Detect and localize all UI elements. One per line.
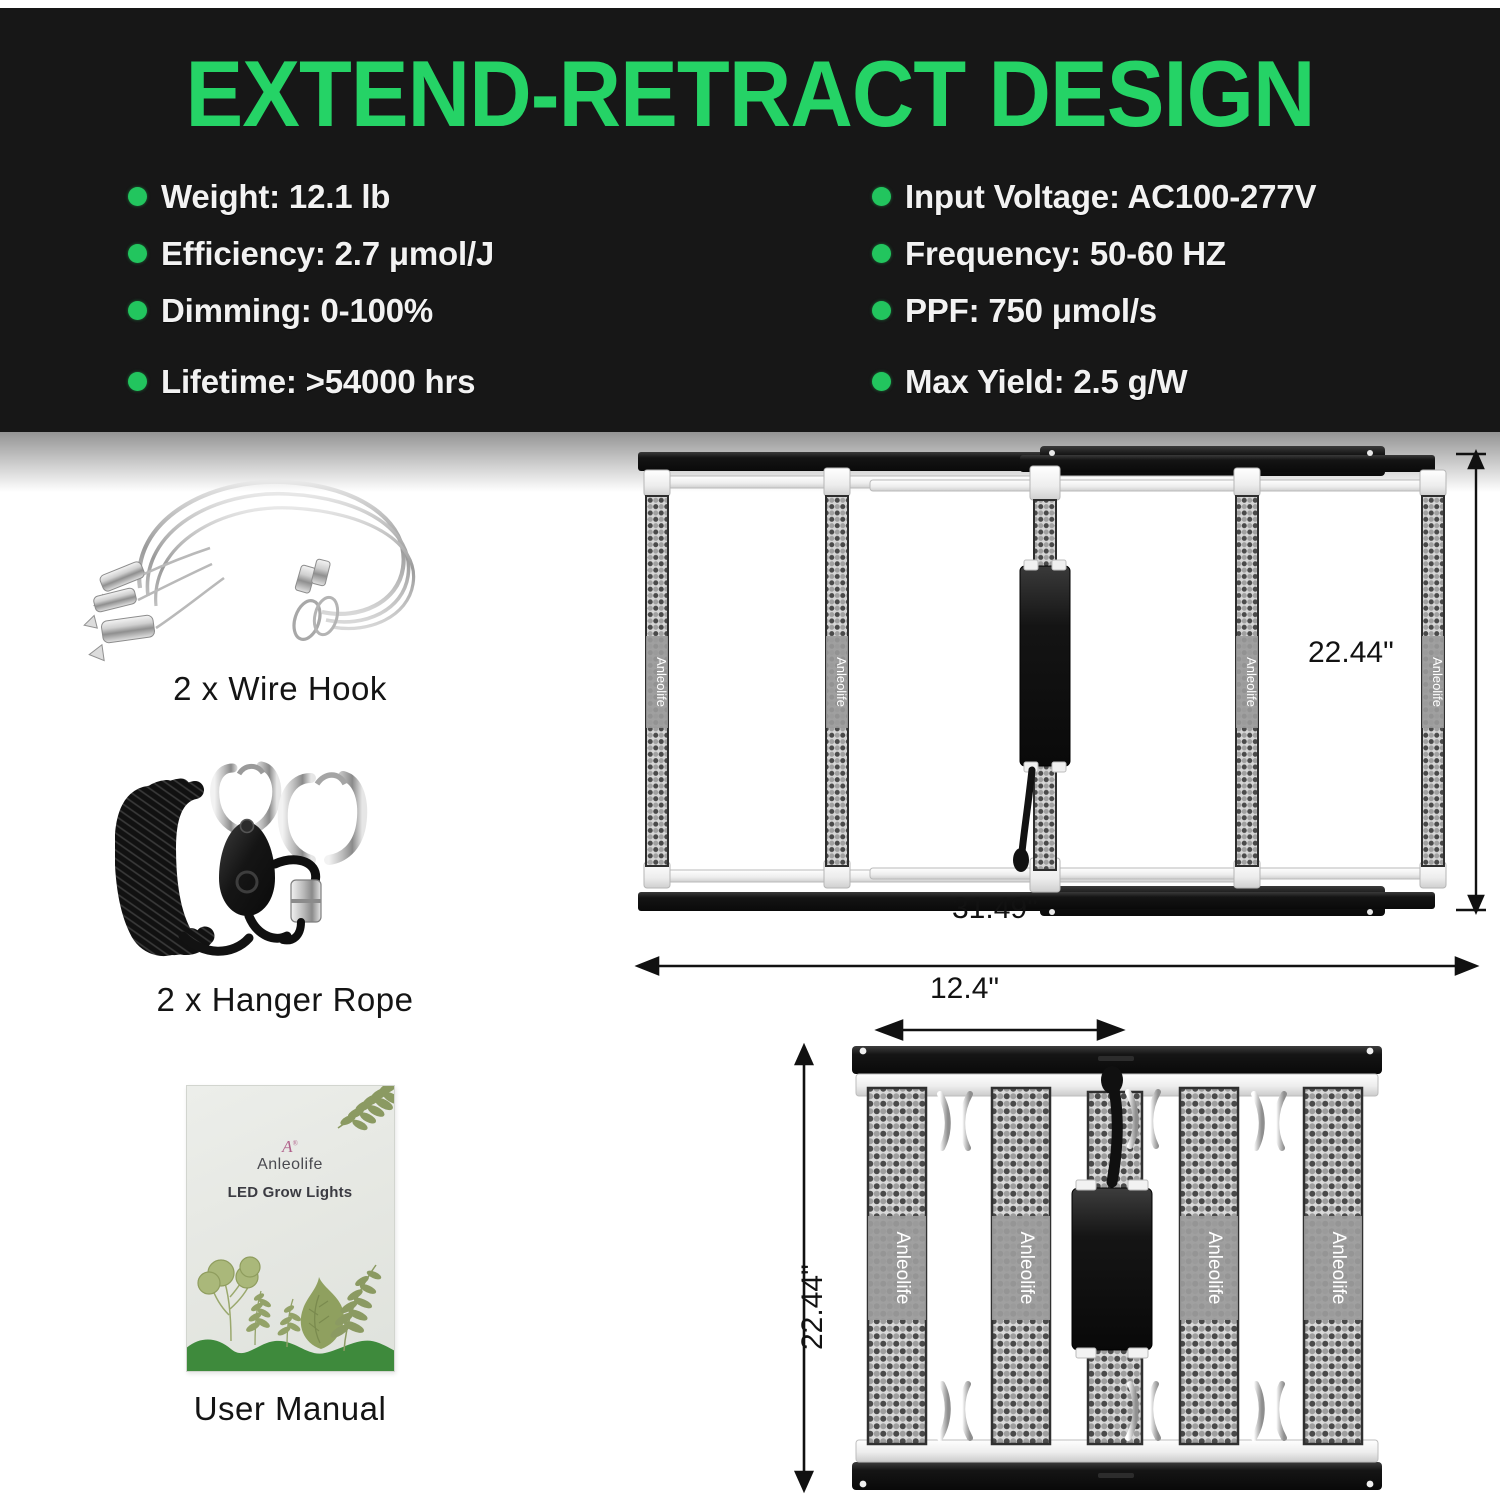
- bullet-icon: [128, 187, 147, 206]
- spec-label: Input Voltage: AC100-277V: [905, 178, 1316, 216]
- accessory-hanger-rope: 2 x Hanger Rope: [0, 760, 605, 1019]
- bar-brand-label: Anleolife: [1244, 657, 1259, 707]
- bullet-icon: [872, 301, 891, 320]
- dimension-label-width-extended: 31.49": [952, 892, 1038, 926]
- product-infographic: EXTEND-RETRACT DESIGN Weight: 12.1 lb Ef…: [0, 0, 1500, 1500]
- accessory-caption: 2 x Hanger Rope: [0, 981, 605, 1019]
- bullet-icon: [872, 187, 891, 206]
- accessories-column: 2 x Wire Hook: [0, 440, 640, 1500]
- bullet-icon: [128, 372, 147, 391]
- bar-brand-label: Anleolife: [1430, 657, 1445, 707]
- bar-brand-label: Anleolife: [1204, 1232, 1225, 1305]
- dimension-label-height-extended: 22.44": [1308, 636, 1394, 670]
- hanger-rope-icon: [115, 760, 455, 975]
- bar-brand-label: Anleolife: [834, 657, 849, 707]
- spec-columns: Weight: 12.1 lb Efficiency: 2.7 μmol/J D…: [0, 168, 1500, 410]
- bar-brand-label: Anleolife: [1328, 1232, 1349, 1305]
- diagram-extended: Anleolife Anleolife Anleolife Anleolife: [620, 440, 1500, 940]
- brand-name: Anleolife: [187, 1156, 394, 1174]
- spec-item-lifetime: Lifetime: >54000 hrs: [128, 353, 750, 410]
- retracted-view-svg: Anleolife Anleolife Anleolife Anleolife: [620, 1040, 1500, 1500]
- accessory-wire-hook: 2 x Wire Hook: [0, 460, 600, 708]
- manual-subtitle: LED Grow Lights: [187, 1184, 394, 1201]
- dimension-height-extended: [1456, 452, 1486, 912]
- spec-label: Frequency: 50-60 HZ: [905, 235, 1226, 273]
- extended-view-svg: Anleolife Anleolife Anleolife Anleolife: [620, 440, 1500, 940]
- branch-decoration-icon: [324, 1255, 386, 1351]
- accessory-caption: 2 x Wire Hook: [0, 670, 600, 708]
- bullet-icon: [128, 301, 147, 320]
- wire-hook-icon: [70, 460, 490, 670]
- spec-column-right: Input Voltage: AC100-277V Frequency: 50-…: [750, 168, 1500, 410]
- bar-brand-label: Anleolife: [892, 1232, 913, 1305]
- product-diagrams: Anleolife Anleolife Anleolife Anleolife: [620, 440, 1500, 1500]
- user-manual-icon: A® Anleolife LED Grow Lights: [186, 1085, 395, 1372]
- bullet-icon: [872, 372, 891, 391]
- bullet-icon: [128, 244, 147, 263]
- dimension-label-height-retracted: 22.44": [796, 1264, 830, 1350]
- spec-item-frequency: Frequency: 50-60 HZ: [872, 225, 1500, 282]
- dimension-width-extended: [620, 930, 1500, 990]
- spec-label: Lifetime: >54000 hrs: [161, 363, 475, 401]
- bullet-icon: [872, 244, 891, 263]
- spec-label: Max Yield: 2.5 g/W: [905, 363, 1187, 401]
- brand-logo: A®: [187, 1138, 394, 1155]
- spec-item-weight: Weight: 12.1 lb: [128, 168, 750, 225]
- diagram-retracted: Anleolife Anleolife Anleolife Anleolife: [620, 1040, 1500, 1500]
- spec-column-left: Weight: 12.1 lb Efficiency: 2.7 μmol/J D…: [0, 168, 750, 410]
- accessory-user-manual: A® Anleolife LED Grow Lights: [0, 1085, 610, 1428]
- dimension-label-width-retracted: 12.4": [930, 972, 999, 1006]
- spec-item-input-voltage: Input Voltage: AC100-277V: [872, 168, 1500, 225]
- spec-item-max-yield: Max Yield: 2.5 g/W: [872, 353, 1500, 410]
- spec-header-panel: EXTEND-RETRACT DESIGN Weight: 12.1 lb Ef…: [0, 8, 1500, 432]
- spec-item-dimming: Dimming: 0-100%: [128, 282, 750, 339]
- spec-label: Dimming: 0-100%: [161, 292, 433, 330]
- spec-item-ppf: PPF: 750 μmol/s: [872, 282, 1500, 339]
- page-title: EXTEND-RETRACT DESIGN: [60, 46, 1440, 142]
- spec-label: Weight: 12.1 lb: [161, 178, 390, 216]
- spec-label: Efficiency: 2.7 μmol/J: [161, 235, 494, 273]
- bar-brand-label: Anleolife: [654, 657, 669, 707]
- spec-item-efficiency: Efficiency: 2.7 μmol/J: [128, 225, 750, 282]
- spec-label: PPF: 750 μmol/s: [905, 292, 1157, 330]
- bar-brand-label: Anleolife: [1016, 1232, 1037, 1305]
- accessory-caption: User Manual: [0, 1390, 610, 1428]
